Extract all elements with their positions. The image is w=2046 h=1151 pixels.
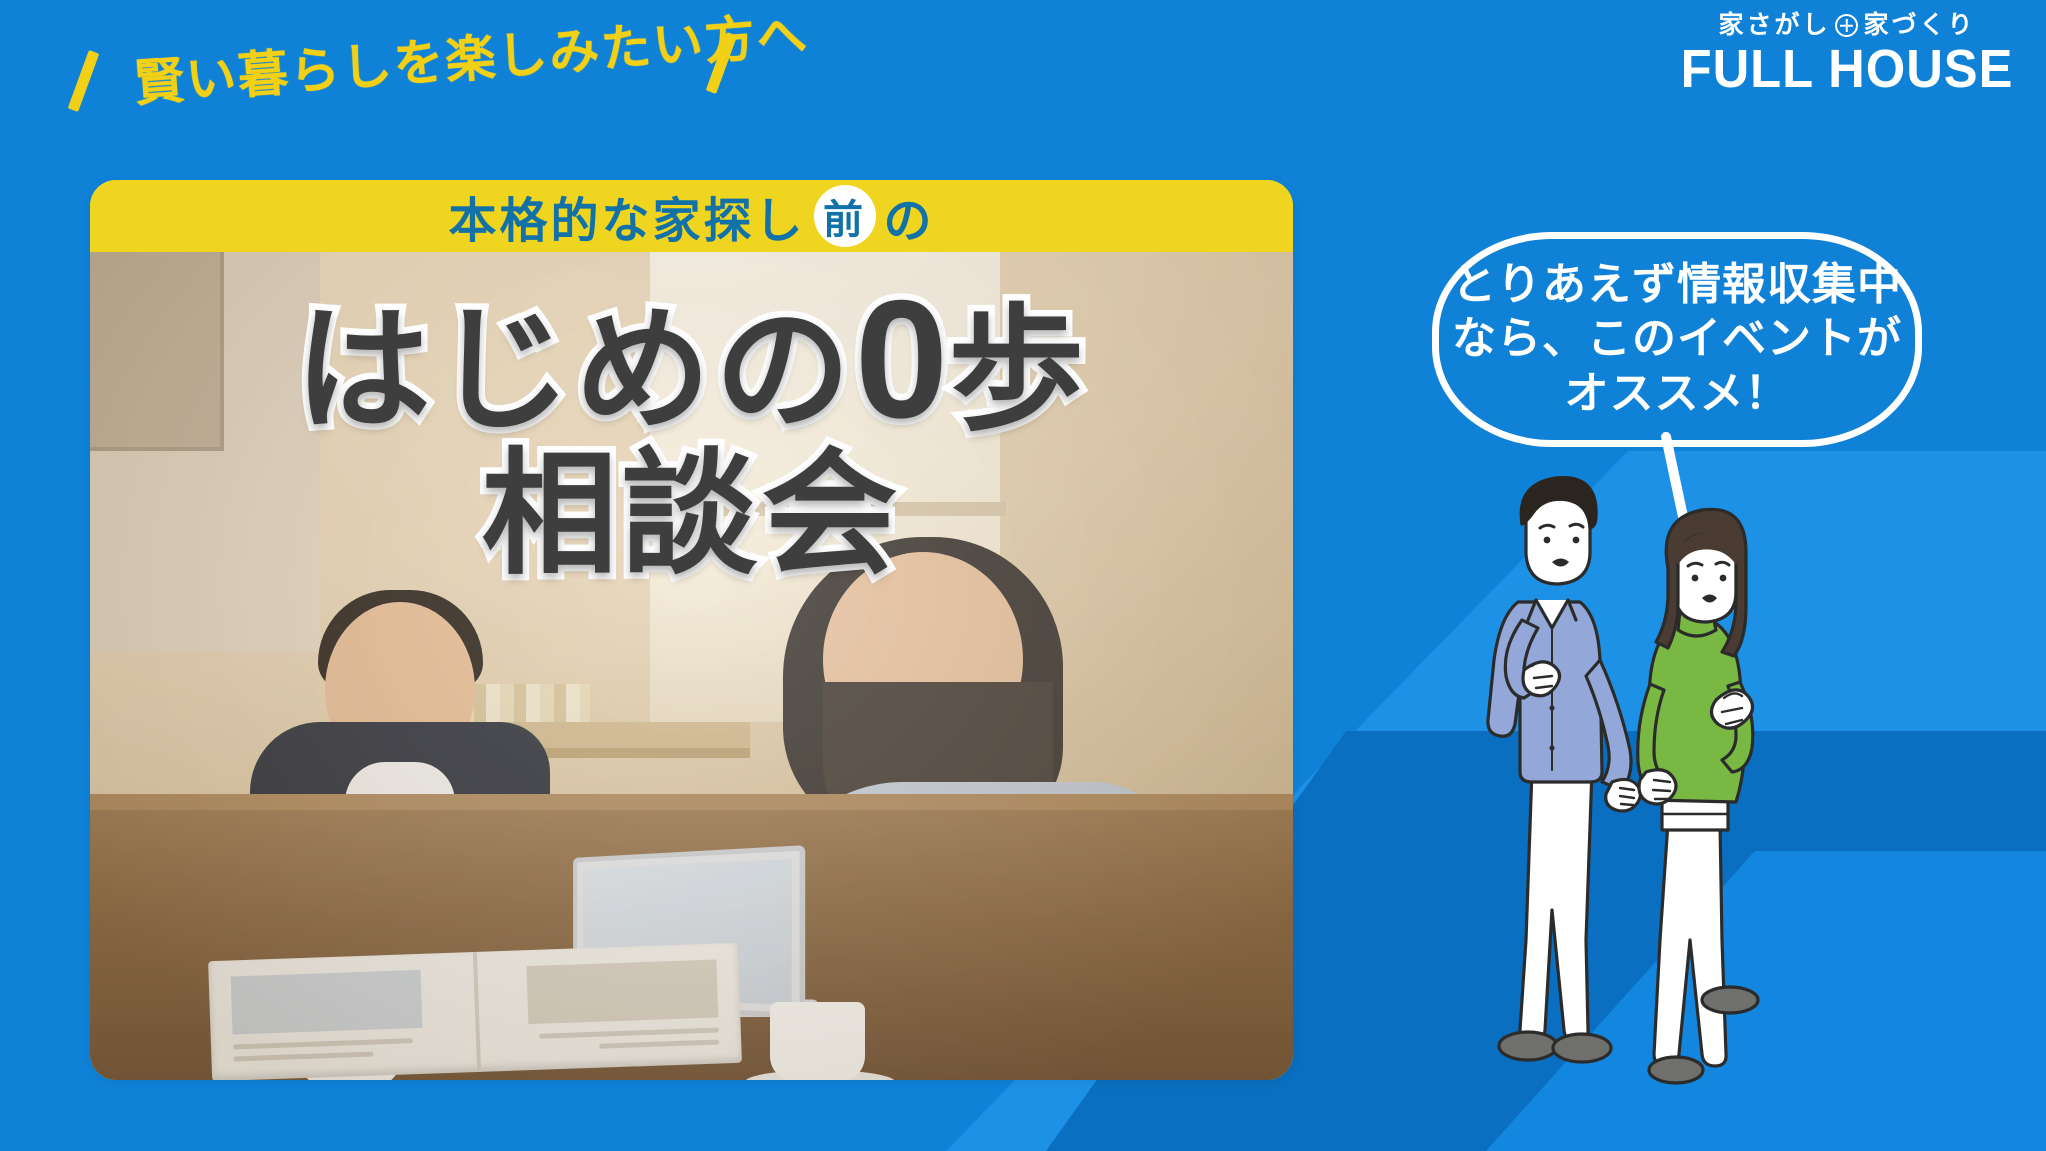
speech-bubble-line-3: オススメ！ xyxy=(1565,367,1790,422)
logo-tagline-right: 家づくり xyxy=(1863,12,1975,40)
consultation-photo: はじめの0歩 相談会 xyxy=(90,252,1293,1080)
woman-figure xyxy=(1638,509,1758,1083)
logo-wordmark: FULL HOUSE xyxy=(1681,42,2014,96)
speech-bubble-line-2: なら、このイベントが xyxy=(1452,312,1902,367)
card-band-before: 本格的な家探し xyxy=(448,181,805,251)
brand-logo[interactable]: 家さがし 家づくり FULL HOUSE xyxy=(1670,12,2024,96)
photo-vignette xyxy=(90,252,1293,1080)
speech-bubble-line-1: とりあえず情報収集中 xyxy=(1452,258,1902,313)
speech-bubble: とりあえず情報収集中 なら、このイベントが オススメ！ xyxy=(1432,232,1922,447)
card-band-after: の xyxy=(884,181,935,251)
card-band-text: 本格的な家探し 前 の xyxy=(448,181,934,251)
logo-tagline: 家さがし 家づくり xyxy=(1670,12,2024,40)
banner-canvas: 賢い暮らしを楽しみたい方へ 家さがし 家づくり FULL HOUSE 本格的な家… xyxy=(0,0,2046,1151)
card-band-circled-char: 前 xyxy=(814,185,876,247)
logo-tagline-left: 家さがし xyxy=(1718,12,1830,40)
plus-circle-icon xyxy=(1835,14,1858,37)
headline-group: 賢い暮らしを楽しみたい方へ xyxy=(74,26,834,122)
card-yellow-band: 本格的な家探し 前 の xyxy=(90,180,1293,252)
event-card: 本格的な家探し 前 の xyxy=(90,180,1293,1080)
speech-bubble-text: とりあえず情報収集中 なら、このイベントが オススメ！ xyxy=(1432,232,1922,447)
couple-illustration xyxy=(1440,470,1880,1090)
man-figure xyxy=(1488,478,1641,1062)
